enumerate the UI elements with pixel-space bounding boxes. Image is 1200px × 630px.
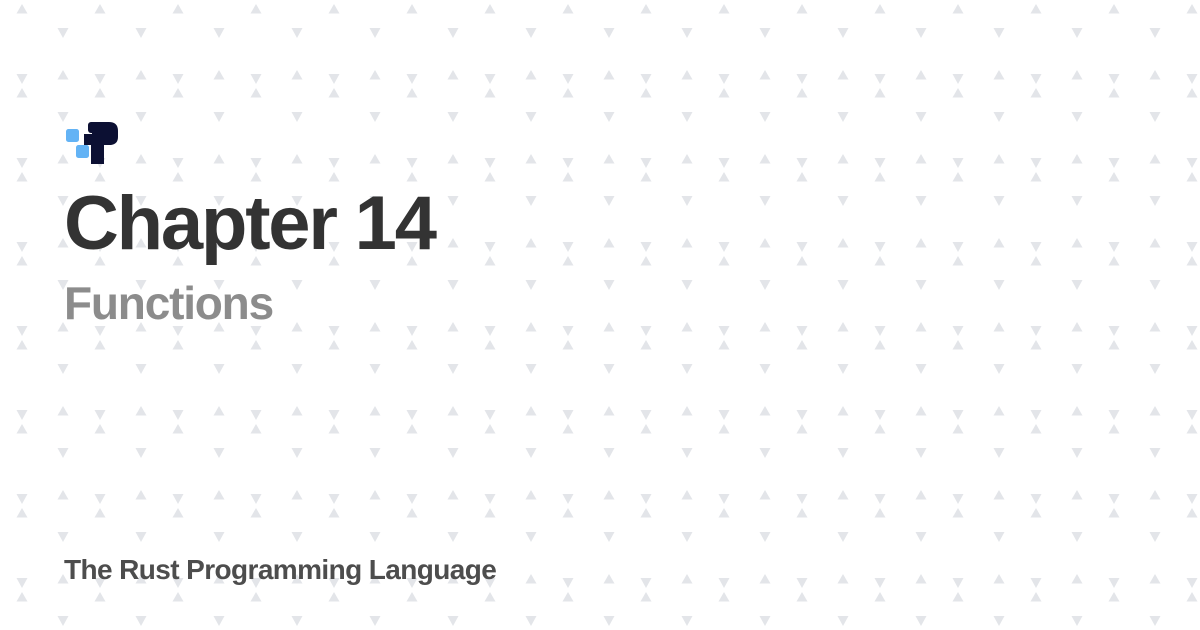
book-title-label: The Rust Programming Language [64, 556, 1064, 584]
logo-square-blue-upper [66, 129, 79, 142]
logo-square-blue-lower [76, 145, 89, 158]
cover-title-block: Chapter 14 Functions [64, 186, 1064, 326]
page-subtitle: Functions [64, 280, 1064, 326]
brand-logo-icon [64, 120, 122, 166]
logo-navy-mark [84, 122, 118, 164]
cover-canvas: Chapter 14 Functions The Rust Programmin… [0, 0, 1200, 630]
page-title: Chapter 14 [64, 186, 1064, 262]
footer-block: The Rust Programming Language [64, 556, 1064, 584]
